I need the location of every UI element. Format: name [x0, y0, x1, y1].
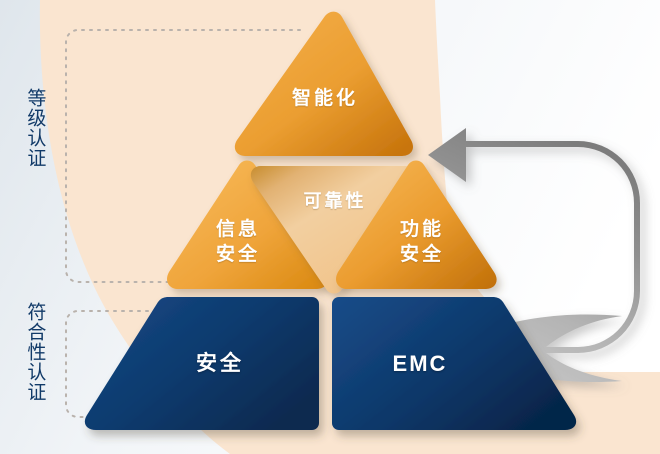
- tile-label-intelligent: 智能化: [265, 87, 385, 112]
- tile-label-safety: 安全: [155, 350, 285, 377]
- tile-label-reliability: 可靠性: [280, 190, 390, 213]
- tile-label-infosec: 信息 安全: [188, 218, 288, 267]
- tile-label-funcsafe: 功能 安全: [372, 218, 472, 267]
- tier-label-grade: 等级认证: [24, 88, 46, 168]
- diagram-canvas: 等级认证 符合性认证 智能化 信息 安全 可靠性 功能 安全 安全 EMC: [0, 0, 660, 454]
- diagram-svg: [0, 0, 660, 454]
- tier-label-compliance: 符合性认证: [24, 302, 46, 402]
- tile-label-emc: EMC: [355, 350, 485, 379]
